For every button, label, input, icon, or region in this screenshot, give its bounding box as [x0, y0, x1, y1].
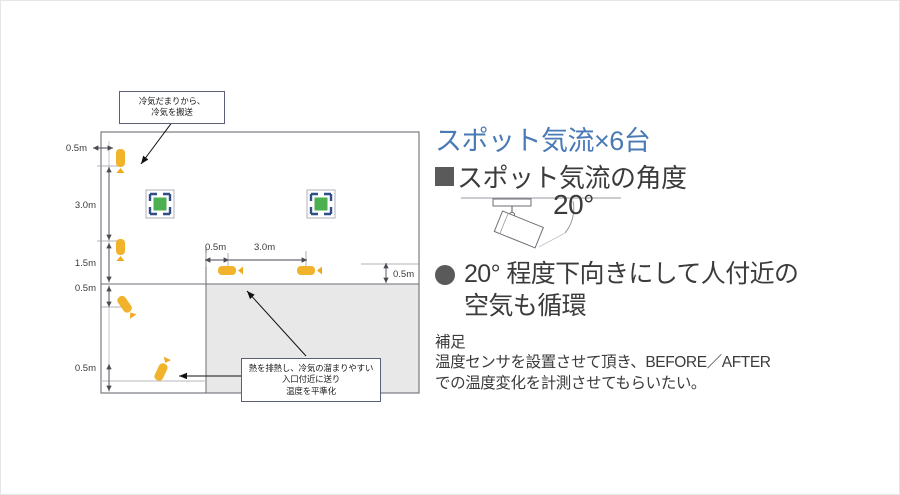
spot-marker-4: [153, 357, 171, 383]
callout-heat-exhaust: 熱を排熱し、冷気の溜まりやすい 入口付近に送り 温度を平準化: [241, 358, 381, 402]
dim-label-left-0: 0.5m: [66, 143, 87, 154]
dim-label-left-2: 1.5m: [75, 258, 96, 269]
spot-marker-1: [116, 149, 125, 173]
angle-leader: [539, 233, 565, 247]
callout-bottom-line3: 温度を平準化: [248, 386, 374, 397]
page-title: スポット気流×6台: [435, 119, 650, 158]
main-point-text: 20° 程度下向きにして人付近の 空気も循環: [464, 259, 798, 322]
spotlight-body: [494, 211, 543, 248]
spot-marker-6: [297, 266, 322, 275]
circle-bullet-icon: [435, 265, 455, 285]
main-point-row: 20° 程度下向きにして人付近の 空気も循環: [435, 259, 798, 322]
spot-marker-5: [218, 266, 243, 275]
dim-label-left-4: 0.5m: [75, 363, 96, 374]
dim-label-mid-0: 0.5m: [205, 242, 226, 253]
note-line2: での温度変化を計測させてもらいたい。: [435, 374, 771, 394]
indoor-unit-left: [146, 190, 174, 218]
leader-line-top: [141, 121, 173, 164]
dim-label-left-1: 3.0m: [75, 200, 96, 211]
dim-label-right-0: 0.5m: [393, 269, 414, 280]
right-content-panel: スポット気流×6台 スポット気流の角度: [431, 1, 900, 495]
callout-bottom-line1: 熱を排熱し、冷気の溜まりやすい: [248, 363, 374, 374]
callout-top-line2: 冷気を搬送: [126, 107, 218, 118]
callout-top-line1: 冷気だまりから、: [126, 96, 218, 107]
callout-bottom-line2: 入口付近に送り: [248, 374, 374, 385]
spotlight-mount: [493, 199, 531, 206]
main-point-line1: 20° 程度下向きにして人付近の: [464, 260, 798, 288]
square-bullet-icon: [435, 167, 454, 186]
supplementary-note: 補足 温度センサを設置させて頂き、BEFORE／AFTER での温度変化を計測さ…: [435, 333, 771, 394]
indoor-unit-right: [307, 190, 335, 218]
angle-value-label: 20°: [553, 189, 594, 221]
dim-label-mid-1: 3.0m: [254, 242, 275, 253]
dim-label-left-3: 0.5m: [75, 283, 96, 294]
note-line1: 温度センサを設置させて頂き、BEFORE／AFTER: [435, 353, 771, 373]
main-point-line2: 空気も循環: [464, 292, 586, 320]
slide-canvas: 0.5m 3.0m 1.5m 0.5m 0.5m 0.5m 3.0m 0.5m: [0, 0, 900, 495]
floor-plan-diagram: 0.5m 3.0m 1.5m 0.5m 0.5m 0.5m 3.0m 0.5m: [1, 1, 431, 495]
note-heading: 補足: [435, 333, 771, 353]
spot-marker-2: [116, 239, 125, 261]
callout-cold-air-transport: 冷気だまりから、 冷気を搬送: [119, 91, 225, 124]
